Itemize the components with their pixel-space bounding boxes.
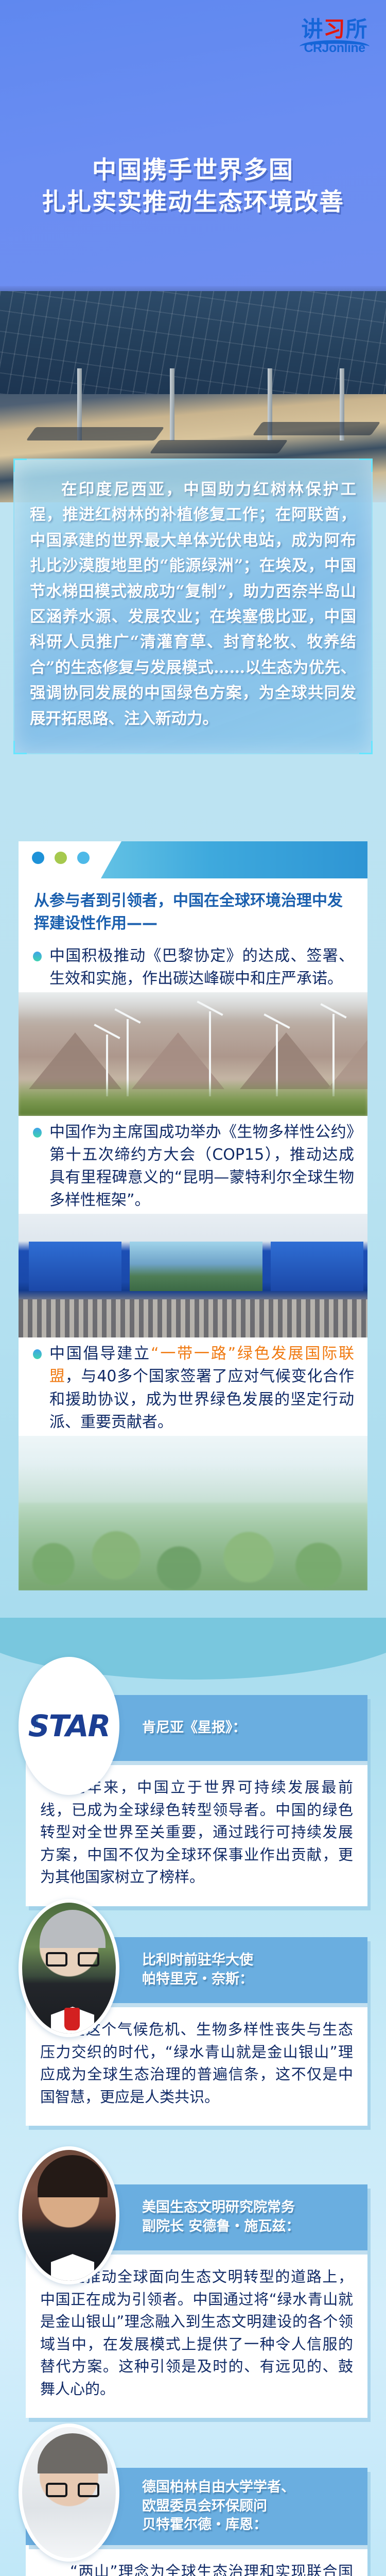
post-shadow [150, 440, 288, 453]
quote-source-name: 德国柏林自由大学学者、 欧盟委员会环保顾问 贝特霍尔德・库恩： [142, 2478, 303, 2535]
quote-source-name: 美国生态文明研究院常务 副院长 安德鲁・施瓦兹： [142, 2198, 308, 2236]
berthold-kuhn-portrait [19, 2424, 119, 2562]
andrew-schwartz-portrait [19, 2146, 119, 2284]
bullet-text-2: 中国作为主席国成功举办《生物多样性公约》第十五次缔约方大会（COP15），推动达… [32, 1121, 354, 1212]
quote-text: 近年来，中国立于世界可持续发展最前线，已成为全球绿色转型领导者。中国的绿色转型对… [40, 1776, 353, 1889]
dot-lightblue-icon [77, 852, 90, 864]
quote-source-name: 肯尼亚《星报》： [142, 1719, 255, 1738]
page-title-line2: 扎扎实实推动生态环境改善 [0, 187, 386, 218]
patrick-nijs-portrait [19, 1899, 119, 2037]
intro-text-card: 在印度尼西亚，中国助力红树林保护工程，推进红树林的补植修复工作；在阿联酋，中国承… [13, 459, 373, 754]
corner-bracket-icon [359, 741, 373, 754]
page-title-line1: 中国携手世界多国 [0, 155, 386, 187]
portrait-hair [40, 1910, 106, 1948]
quote-source-name: 比利时前驻华大使 帕特里克・奈斯： [142, 1951, 261, 1989]
quote-header-band: 德国柏林自由大学学者、 欧盟委员会环保顾问 贝特霍尔德・库恩： [26, 2468, 367, 2545]
bullet-3-part1: 中国倡导建立 [49, 1345, 151, 1363]
quote-source-name-line2: 副院长 安德鲁・施瓦兹： [142, 2217, 300, 2236]
quote-source-name-line1: 比利时前驻华大使 [142, 1951, 253, 1970]
quote-block-kuhn: 德国柏林自由大学学者、 欧盟委员会环保顾问 贝特霍尔德・库恩： “两山”理念为全… [19, 2468, 367, 2576]
portrait-tie [64, 2008, 80, 2030]
hero-banner: 讲习所 CRJonline 中国携手世界多国 扎扎实实推动生态环境改善 [0, 0, 386, 319]
quote-block-schwartz: 美国生态文明研究院常务 副院长 安德鲁・施瓦兹： 在推动全球面向生态文明转型的道… [19, 2184, 367, 2418]
eyeglasses-icon [46, 1952, 99, 1967]
dot-blue-icon [32, 852, 44, 864]
bullet-text-3: 中国倡导建立“一带一路”绿色发展国际联盟，与40多个国家签署了应对气候变化合作和… [32, 1343, 354, 1433]
post-shadow [253, 422, 381, 435]
panel-post [170, 368, 174, 440]
quote-text: 在推动全球面向生态文明转型的道路上，中国正在成为引领者。中国通过将“绿水青山就是… [40, 2266, 353, 2400]
page-title: 中国携手世界多国 扎扎实实推动生态环境改善 [0, 155, 386, 218]
quote-source-name-line3: 贝特霍尔德・库恩： [142, 2516, 295, 2535]
bullet-text-1: 中国积极推动《巴黎协定》的达成、签署、生效和实施，作出碳达峰碳中和庄严承诺。 [32, 945, 354, 990]
eyeglasses-icon [46, 2483, 99, 2497]
header-logo-latin: CRJonline [296, 42, 373, 55]
header-logo: 讲习所 CRJonline [296, 19, 373, 55]
corner-bracket-icon [13, 459, 27, 472]
quote-source-name-line2: 帕特里克・奈斯： [142, 1970, 253, 1989]
forest-canopy-photo [19, 1436, 367, 1590]
corner-bracket-icon [13, 741, 27, 754]
infographic-page: 讲习所 CRJonline 中国携手世界多国 扎扎实实推动生态环境改善 在印度尼… [0, 0, 386, 2576]
solar-panels [0, 291, 386, 394]
quote-header-band: 比利时前驻华大使 帕特里克・奈斯： [26, 1937, 367, 2003]
intro-paragraph: 在印度尼西亚，中国助力红树林保护工程，推进红树林的补植修复工作；在阿联酋，中国承… [30, 477, 356, 732]
panel-tab-bar [19, 841, 367, 878]
corner-bracket-icon [359, 459, 373, 472]
quote-source-name-line1: 美国生态文明研究院常务 [142, 2198, 300, 2217]
quote-text: “两山”理念为全球生态治理和实现联合国可持续发展目标提供了中国方案，契合生态保护… [40, 2561, 353, 2576]
portrait-hair [38, 2155, 108, 2197]
panel-heading: 从参与者到引领者，中国在全球环境治理中发挥建设性作用—— [19, 878, 367, 940]
portrait-shirt [51, 2254, 94, 2281]
wind-farm-photo [19, 992, 367, 1116]
header-logo-chinese: 讲习所 [296, 19, 373, 40]
window-dots [32, 852, 90, 864]
star-logo-text: STAR [22, 1708, 116, 1743]
cop15-conference-photo [19, 1214, 367, 1337]
post-shadow [26, 427, 165, 440]
the-star-kenya-logo: THE STAR [19, 1657, 119, 1795]
bullet-item: 中国作为主席国成功举办《生物多样性公约》第十五次缔约方大会（COP15），推动达… [19, 1116, 367, 1214]
bullet-item: 中国倡导建立“一带一路”绿色发展国际联盟，与40多个国家签署了应对气候变化合作和… [19, 1337, 367, 1435]
quote-source-name-line2: 欧盟委员会环保顾问 [142, 2497, 295, 2516]
dot-green-icon [55, 852, 67, 864]
portrait-hair [38, 2433, 108, 2473]
quote-header-band: 美国生态文明研究院常务 副院长 安德鲁・施瓦兹： [26, 2184, 367, 2250]
achievements-panel: 从参与者到引领者，中国在全球环境治理中发挥建设性作用—— 中国积极推动《巴黎协定… [19, 841, 367, 1590]
quote-header-band: THE STAR 肯尼亚《星报》： [26, 1695, 367, 1761]
quote-source-name-line1: 德国柏林自由大学学者、 [142, 2478, 295, 2497]
bullet-3-part2: ，与40多个国家签署了应对气候变化合作和援助协议，成为世界绿色发展的坚定行动派、… [49, 1367, 354, 1431]
bullet-item: 中国积极推动《巴黎协定》的达成、签署、生效和实施，作出碳达峰碳中和庄严承诺。 [19, 940, 367, 992]
quote-block-star: THE STAR 肯尼亚《星报》： 近年来，中国立于世界可持续发展最前线，已成为… [19, 1695, 367, 1906]
quote-block-nijs: 比利时前驻华大使 帕特里克・奈斯： 在这个气候危机、生物多样性丧失与生态压力交织… [19, 1937, 367, 2126]
